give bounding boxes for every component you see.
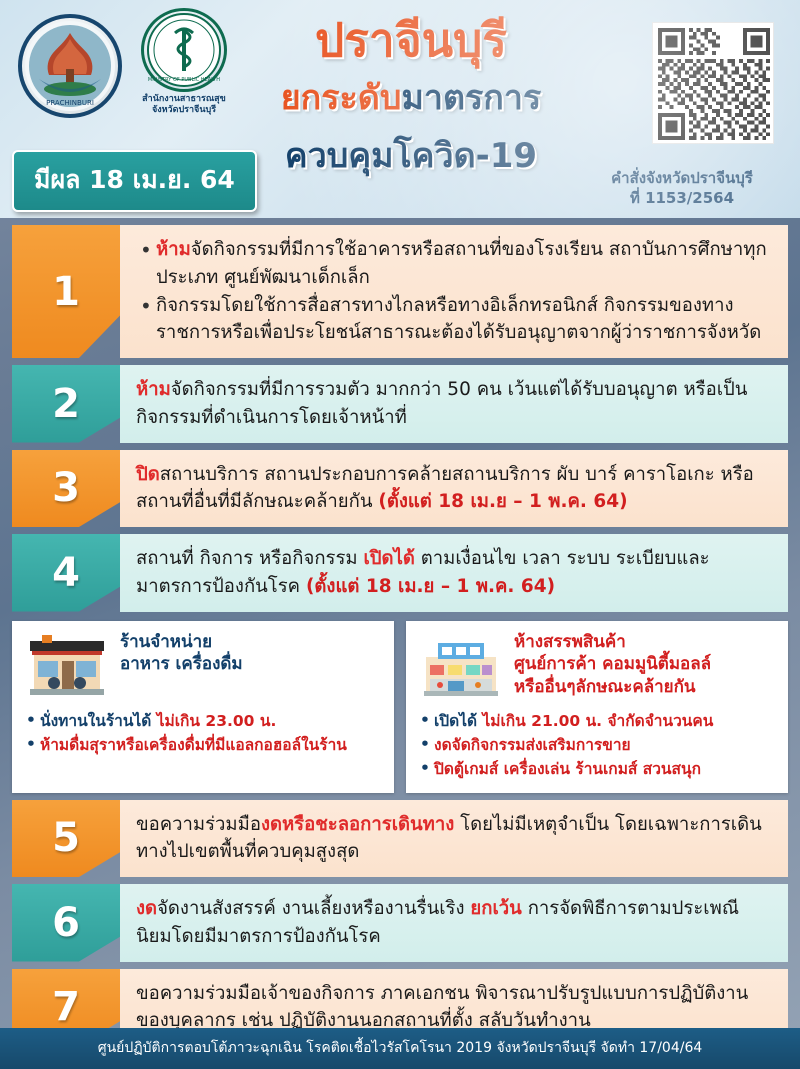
measure-body-4: สถานที่ กิจการ หรือกิจกรรม เปิดได้ ตามเง… [120,534,788,612]
panel-malls-rule-3-a: ปิดตู้เกมส์ เครื่องเล่น ร้านเกมส์ สวนสนุ… [434,760,701,778]
moph-caption: สำนักงานสาธารณสุข จังหวัดปราจีนบุรี [136,94,232,117]
seal-icon: PRACHINBURI [23,19,117,113]
measure-number-6: 6 [12,884,120,962]
order-reference-line2: ที่ 1153/2564 [582,188,782,208]
measure-number-2: 2 [12,365,120,443]
title-block: ปราจีนบุรี ยกระดับมาตรการ ควบคุมโควิด-19 [246,16,576,182]
measure-3-daterange: (ตั้งแต่ 18 เม.ย – 1 พ.ค. 64) [378,491,627,512]
measure-1-text-2: กิจกรรมโดยใช้การสื่อสารทางไกลหรือทางอิเล… [156,295,761,344]
measure-7-text: ขอความร่วมมือเจ้าของกิจการ ภาคเอกชน พิจา… [136,983,748,1032]
measure-6-text-1: จัดงานสังสรรค์ งานเลี้ยงหรืองานรื่นเริง [157,898,470,919]
measure-1-text-1: จัดกิจกรรมที่มีการใช้อาคารหรือสถานที่ของ… [156,239,767,288]
measure-row-6: 6 งดจัดงานสังสรรค์ งานเลี้ยงหรืองานรื่นเ… [12,884,788,962]
panel-restaurants-title-l1: ร้านจำหน่าย [120,631,243,654]
panel-restaurants-title: ร้านจำหน่าย อาหาร เครื่องดื่ม [120,631,243,677]
panel-malls-rule-1-a: เปิดได้ [434,712,482,730]
poster-root: PRACHINBURI MINISTRY OF PUBLIC HEALTH สำ… [0,0,800,1069]
measure-3-keyword: ปิด [136,464,160,485]
measures-list-bottom: 5 ขอความร่วมมืองดหรือชะลอการเดินทาง โดยไ… [0,800,800,1047]
panel-malls-head: ห้างสรรพสินค้า ศูนย์การค้า คอมมูนิตี้มอล… [418,631,776,703]
restaurant-icon [24,631,110,701]
panel-restaurants-title-l2: อาหาร เครื่องดื่ม [120,653,243,676]
panel-restaurants-rule-2: ห้ามดื่มสุราหรือเครื่องดื่มที่มีแอลกอฮอล… [24,733,382,757]
measure-1-keyword: ห้าม [156,239,191,260]
order-reference-line1: คำสั่งจังหวัดปราจีนบุรี [582,168,782,188]
panel-restaurants-rule-1-b: ไม่เกิน 23.00 น. [157,712,277,730]
panel-restaurants-rule-2-a: ห้ามดื่มสุราหรือเครื่องดื่มที่มีแอลกอฮอล… [40,736,347,754]
panel-malls-rules: เปิดได้ ไม่เกิน 21.00 น. จำกัดจำนวนคน งด… [418,709,776,781]
measure-number-5: 5 [12,800,120,878]
measure-2-text: จัดกิจกรรมที่มีการรวมตัว มากกว่า 50 คน เ… [136,379,747,428]
svg-text:PRACHINBURI: PRACHINBURI [46,99,94,107]
moph-emblem-icon: MINISTRY OF PUBLIC HEALTH [141,8,227,92]
poster-footer: ศูนย์ปฏิบัติการตอบโต้ภาวะฉุกเฉิน โรคติดเ… [0,1028,800,1069]
measure-4-text-1: สถานที่ กิจการ หรือกิจกรรม [136,548,363,569]
poster-title-measure: ยกระดับมาตรการ [246,70,576,124]
moph-logo: MINISTRY OF PUBLIC HEALTH สำนักงานสาธารณ… [136,8,232,108]
measure-2-keyword: ห้าม [136,379,171,400]
panel-restaurants-rules: นั่งทานในร้านได้ ไม่เกิน 23.00 น. ห้ามดื… [24,709,382,757]
panel-malls-rule-3: ปิดตู้เกมส์ เครื่องเล่น ร้านเกมส์ สวนสนุ… [418,757,776,781]
measure-body-5: ขอความร่วมมืองดหรือชะลอการเดินทาง โดยไม่… [120,800,788,878]
measure-number-3: 3 [12,450,120,528]
measure-5-text-1: ขอความร่วมมือ [136,814,261,835]
title-measure-highlight: ยกระดับ [281,78,402,118]
measure-1-bullet-2: กิจกรรมโดยใช้การสื่อสารทางไกลหรือทางอิเล… [136,292,772,348]
measure-row-3: 3 ปิดสถานบริการ สถานประกอบการคล้ายสถานบร… [12,450,788,528]
caduceus-icon: MINISTRY OF PUBLIC HEALTH [145,11,223,89]
info-panels: ร้านจำหน่าย อาหาร เครื่องดื่ม นั่งทานในร… [12,621,788,793]
poster-title-province: ปราจีนบุรี [246,16,576,64]
measure-body-6: งดจัดงานสังสรรค์ งานเลี้ยงหรืองานรื่นเริ… [120,884,788,962]
measure-number-4: 4 [12,534,120,612]
moph-caption-line1: สำนักงานสาธารณสุข จังหวัดปราจีนบุรี [136,94,232,117]
mall-icon [418,631,504,701]
poster-header: PRACHINBURI MINISTRY OF PUBLIC HEALTH สำ… [0,0,800,218]
measure-4-daterange: (ตั้งแต่ 18 เม.ย – 1 พ.ค. 64) [306,576,555,597]
panel-restaurants-rule-1-a: นั่งทานในร้านได้ [40,712,157,730]
measures-list-top: 1 ห้ามจัดกิจกรรมที่มีการใช้อาคารหรือสถาน… [0,225,800,612]
title-measure-rest: มาตรการ [401,78,541,118]
svg-text:MINISTRY OF PUBLIC HEALTH: MINISTRY OF PUBLIC HEALTH [148,77,220,83]
panel-restaurants-rule-1: นั่งทานในร้านได้ ไม่เกิน 23.00 น. [24,709,382,733]
measure-1-bullet-1: ห้ามจัดกิจกรรมที่มีการใช้อาคารหรือสถานที… [136,236,772,292]
qr-svg [658,28,770,140]
measure-body-2: ห้ามจัดกิจกรรมที่มีการรวมตัว มากกว่า 50 … [120,365,788,443]
poster-title-covid: ควบคุมโควิด-19 [246,128,576,182]
measure-row-2: 2 ห้ามจัดกิจกรรมที่มีการรวมตัว มากกว่า 5… [12,365,788,443]
panel-malls-title-l2: ศูนย์การค้า คอมมูนิตี้มอลล์ [514,653,711,676]
measure-row-1: 1 ห้ามจัดกิจกรรมที่มีการใช้อาคารหรือสถาน… [12,225,788,358]
panel-malls-rule-2-a: งดจัดกิจกรรมส่งเสริมการขาย [434,736,631,754]
panel-restaurants: ร้านจำหน่าย อาหาร เครื่องดื่ม นั่งทานในร… [12,621,394,793]
qr-code-icon [652,22,774,144]
effective-date-badge: มีผล 18 เม.ย. 64 [12,150,257,212]
measure-5-keyword: งดหรือชะลอการเดินทาง [261,814,454,835]
measure-6-keyword-2: ยกเว้น [470,898,521,919]
panel-malls-title: ห้างสรรพสินค้า ศูนย์การค้า คอมมูนิตี้มอล… [514,631,711,700]
panel-malls-rule-1-b: ไม่เกิน 21.00 น. จำกัดจำนวนคน [482,712,713,730]
measure-4-keyword: เปิดได้ [363,548,414,569]
measure-row-5: 5 ขอความร่วมมืองดหรือชะลอการเดินทาง โดยไ… [12,800,788,878]
measure-6-keyword-1: งด [136,898,157,919]
panel-malls-rule-1: เปิดได้ ไม่เกิน 21.00 น. จำกัดจำนวนคน [418,709,776,733]
order-reference: คำสั่งจังหวัดปราจีนบุรี ที่ 1153/2564 [582,168,782,209]
measure-body-1: ห้ามจัดกิจกรรมที่มีการใช้อาคารหรือสถานที… [120,225,788,358]
panel-malls-rule-2: งดจัดกิจกรรมส่งเสริมการขาย [418,733,776,757]
measure-number-1: 1 [12,225,120,358]
panel-restaurants-head: ร้านจำหน่าย อาหาร เครื่องดื่ม [24,631,382,703]
panel-malls-title-l1: ห้างสรรพสินค้า [514,631,711,654]
measure-row-4: 4 สถานที่ กิจการ หรือกิจกรรม เปิดได้ ตาม… [12,534,788,612]
measure-body-3: ปิดสถานบริการ สถานประกอบการคล้ายสถานบริก… [120,450,788,528]
provincial-seal-logo: PRACHINBURI [18,14,122,118]
panel-malls-title-l3: หรืออื่นๆลักษณะคล้ายกัน [514,676,711,699]
panel-malls: ห้างสรรพสินค้า ศูนย์การค้า คอมมูนิตี้มอล… [406,621,788,793]
